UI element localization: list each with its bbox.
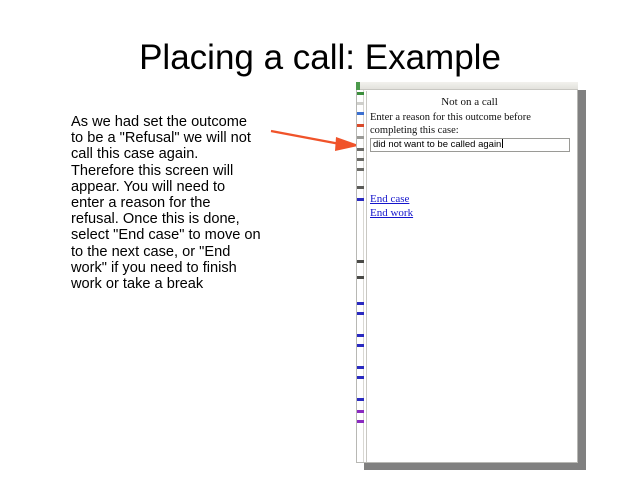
sidebar-fragment-link xyxy=(357,344,364,347)
app-sidebar-sliver xyxy=(357,90,365,462)
annotation-arrow-icon xyxy=(268,120,364,154)
app-toolbar-strip xyxy=(356,82,578,90)
sidebar-fragment-text xyxy=(357,148,364,151)
sidebar-fragment-link xyxy=(357,334,364,337)
sidebar-fragment-link xyxy=(357,410,364,413)
sidebar-fragment-link xyxy=(357,198,364,201)
end-case-link[interactable]: End case xyxy=(370,192,413,206)
sidebar-fragment-icon xyxy=(357,92,364,95)
sidebar-fragment-link xyxy=(357,302,364,305)
slide-body-text: As we had set the outcome to be a "Refus… xyxy=(71,114,261,292)
sidebar-fragment-text xyxy=(357,168,364,171)
sidebar-fragment-link xyxy=(357,366,364,369)
sidebar-fragment-link xyxy=(357,376,364,379)
sidebar-fragment-link xyxy=(357,420,364,423)
sidebar-fragment-link xyxy=(357,398,364,401)
sidebar-fragment-text xyxy=(357,186,364,189)
sidebar-fragment-text xyxy=(357,276,364,279)
app-action-links: End case End work xyxy=(370,192,413,220)
app-instruction-text: Enter a reason for this outcome before c… xyxy=(370,112,574,137)
slide-title: Placing a call: Example xyxy=(0,38,640,78)
sidebar-fragment-icon xyxy=(357,102,364,105)
sidebar-fragment-icon xyxy=(357,124,364,127)
sidebar-fragment-icon xyxy=(357,112,364,115)
sidebar-fragment-icon xyxy=(357,136,364,139)
app-content-pane: Not on a call Enter a reason for this ou… xyxy=(366,91,577,462)
toolbar-accent-marker xyxy=(356,82,360,90)
end-work-link[interactable]: End work xyxy=(370,206,413,220)
app-status-heading: Not on a call xyxy=(367,96,572,108)
reason-input[interactable]: did not want to be called again xyxy=(370,138,570,152)
sidebar-fragment-link xyxy=(357,312,364,315)
sidebar-fragment-text xyxy=(357,158,364,161)
reason-input-value: did not want to be called again xyxy=(373,139,501,150)
text-caret xyxy=(502,139,503,148)
sidebar-fragment-text xyxy=(357,260,364,263)
